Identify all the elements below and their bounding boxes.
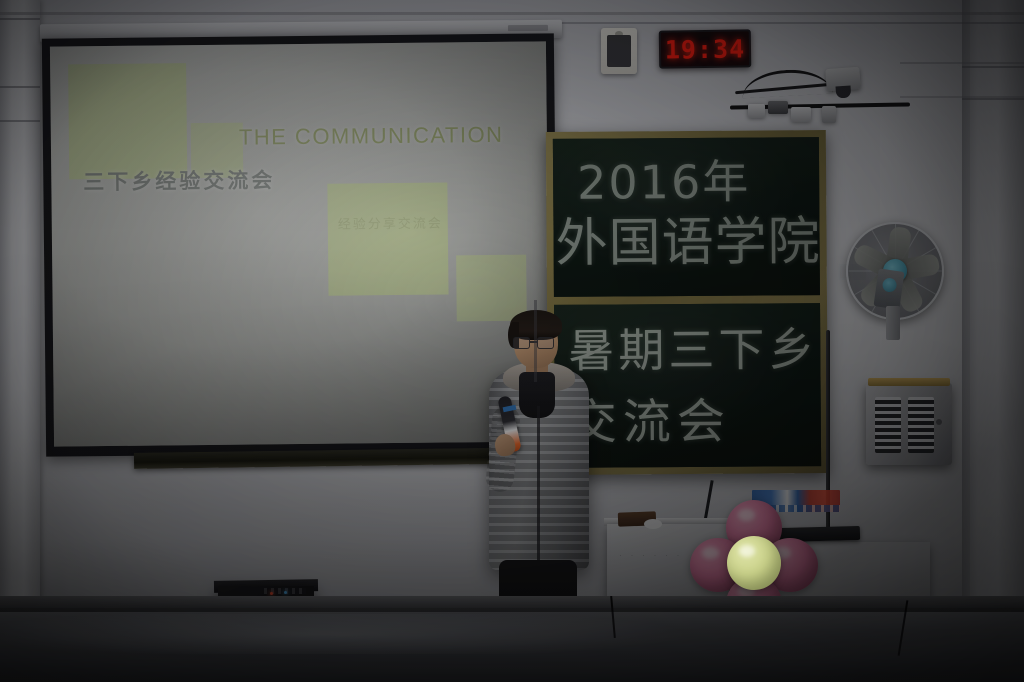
surveillance-camera-icon: [825, 67, 860, 91]
ac-grille-left: [875, 397, 901, 453]
slide-title-chinese: 三下乡经验交流会: [83, 164, 275, 196]
slide-title-english: THE COMMUNICATION: [239, 122, 504, 151]
chalk-text-program: 暑期三下乡: [568, 313, 818, 381]
fan-motor-housing: [873, 268, 904, 309]
clock-time-display: 19:34: [665, 34, 746, 64]
projection-screen-assembly[interactable]: THE COMMUNICATION 三下乡经验交流会 经验分享交流会: [34, 22, 562, 452]
wall-device-2: [791, 107, 811, 122]
ac-top-trim: [868, 378, 950, 386]
slide-block-3: [327, 182, 448, 295]
balloon-center: [727, 536, 781, 590]
wall-device-dark: [768, 101, 788, 114]
photo-scene: THE COMMUNICATION 三下乡经验交流会 经验分享交流会 19:34…: [0, 0, 1024, 682]
podium-faint-label: · · · · · ·: [619, 550, 683, 560]
screen-brand-logo: [508, 25, 548, 31]
amplifier-power-led-icon: [270, 592, 273, 595]
wall-seam-line-lower: [900, 96, 1024, 98]
fan-mount-post: [886, 306, 900, 340]
fan-badge-icon: [882, 277, 898, 293]
ceiling-ledge-line: [0, 12, 1024, 15]
leg-separation: [534, 300, 537, 382]
floor-reflection: [0, 614, 1024, 654]
wall-sensor-box: [601, 28, 637, 74]
slide-block-1: [68, 63, 187, 179]
wall-ledge-line: [560, 22, 1024, 24]
jacket-zipper: [537, 406, 540, 566]
wall-device-3: [822, 106, 836, 123]
wall-device-1: [748, 104, 765, 118]
chalk-text-department: 外国语学院: [555, 199, 820, 276]
sensor-inner-panel: [607, 35, 631, 67]
screen-surface: THE COMMUNICATION 三下乡经验交流会 经验分享交流会: [50, 41, 550, 446]
wall-seam-line-upper: [900, 62, 1024, 64]
podium-small-object: [644, 519, 662, 529]
amplifier-signal-led-icon: [284, 591, 287, 594]
right-wall-column: [962, 0, 1024, 612]
wall-mounted-fan: [846, 222, 944, 320]
digital-wall-clock: 19:34: [659, 29, 752, 68]
chalk-text-event: 交流会: [569, 382, 732, 453]
screen-black-border: THE COMMUNICATION 三下乡经验交流会 经验分享交流会: [42, 33, 558, 456]
slide-subtitle-chinese: 经验分享交流会: [338, 213, 443, 233]
chalkboard-upper-panel: 2016年 外国语学院: [553, 137, 820, 297]
ac-knob-icon: [936, 419, 942, 425]
chalkboard-lower-panel: 暑期三下乡 交流会: [554, 303, 821, 468]
wall-air-conditioner: [866, 383, 952, 465]
ac-grille-right: [908, 397, 934, 453]
